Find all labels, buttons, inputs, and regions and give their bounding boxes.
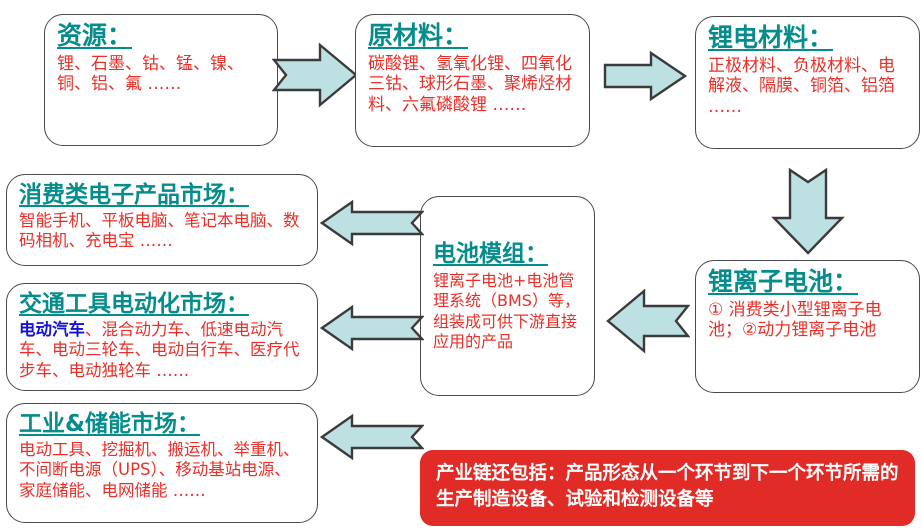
arrow-battery-module-to-transport-market [320,303,424,353]
node-lithium-battery-material-body: 正极材料、负极材料、电解液、隔膜、铜箔、铝箔 …… [708,56,909,119]
supply-chain-diagram: 资源： 锂、石墨、钴、锰、镍、铜、铝、氟 …… 原材料： 碳酸锂、氢氧化锂、四氧… [0,0,922,532]
node-raw-material-body: 碳酸锂、氢氧化锂、四氧化三钴、球形石墨、聚烯烃材料、六氟磷酸锂 …… [368,54,579,117]
node-industrial-energy-storage-market-body: 电动工具、挖掘机、搬运机、举重机、不间断电源（UPS）、移动基站电源、家庭储能、… [19,440,307,501]
node-consumer-electronics-market-body: 智能手机、平板电脑、笔记本电脑、数码相机、充电宝 …… [19,211,307,252]
node-resource-title: 资源： [57,21,267,52]
node-consumer-electronics-market-title: 消费类电子产品市场： [19,181,307,209]
arrow-raw-material-to-lithium-material [603,50,687,102]
node-lithium-battery-material[interactable]: 锂电材料： 正极材料、负极材料、电解液、隔膜、铜箔、铝箔 …… [695,16,920,149]
node-lithium-battery-material-title: 锂电材料： [708,23,909,54]
node-lithium-ion-cell-title: 锂离子电池： [708,267,909,298]
node-lithium-ion-cell[interactable]: 锂离子电池： ① 消费类小型锂离子电池；②动力锂离子电池 [695,260,920,393]
node-consumer-electronics-market[interactable]: 消费类电子产品市场： 智能手机、平板电脑、笔记本电脑、数码相机、充电宝 …… [6,174,318,266]
node-transport-electrification-market-body: 电动汽车、混合动力车、低速电动汽车、电动三轮车、电动自行车、医疗代步车、电动独轮… [19,320,307,381]
node-battery-module-title: 电池模组： [433,240,584,268]
node-industrial-energy-storage-market[interactable]: 工业&储能市场： 电动工具、挖掘机、搬运机、举重机、不间断电源（UPS）、移动基… [6,403,318,523]
arrow-resource-to-raw-material [272,42,358,108]
node-battery-module[interactable]: 电池模组： 锂离子电池+电池管理系统（BMS）等，组装成可供下游直接应用的产品 [420,196,595,396]
node-lithium-ion-cell-body: ① 消费类小型锂离子电池；②动力锂离子电池 [708,300,909,342]
node-raw-material-title: 原材料： [368,21,579,52]
node-battery-module-body: 锂离子电池+电池管理系统（BMS）等，组装成可供下游直接应用的产品 [433,271,584,353]
arrow-lithium-material-to-lithium-cell [770,160,846,256]
node-resource[interactable]: 资源： 锂、石墨、钴、锰、镍、铜、铝、氟 …… [44,14,278,146]
node-transport-electrification-market-title: 交通工具电动化市场： [19,290,307,318]
arrow-lithium-cell-to-battery-module [606,288,690,354]
node-raw-material[interactable]: 原材料： 碳酸锂、氢氧化锂、四氧化三钴、球形石墨、聚烯烃材料、六氟磷酸锂 …… [355,14,590,147]
node-transport-market-highlight: 电动汽车 [19,320,85,339]
node-industrial-energy-storage-market-title: 工业&储能市场： [19,410,307,438]
arrow-battery-module-to-industry-market [320,412,424,462]
node-resource-body: 锂、石墨、钴、锰、镍、铜、铝、氟 …… [57,54,267,96]
arrow-battery-module-to-consumer-market [320,198,424,248]
node-transport-electrification-market[interactable]: 交通工具电动化市场： 电动汽车、混合动力车、低速电动汽车、电动三轮车、电动自行车… [6,283,318,391]
supply-chain-note-banner: 产业链还包括：产品形态从一个环节到下一个环节所需的生产制造设备、试验和检测设备等 [420,450,915,526]
